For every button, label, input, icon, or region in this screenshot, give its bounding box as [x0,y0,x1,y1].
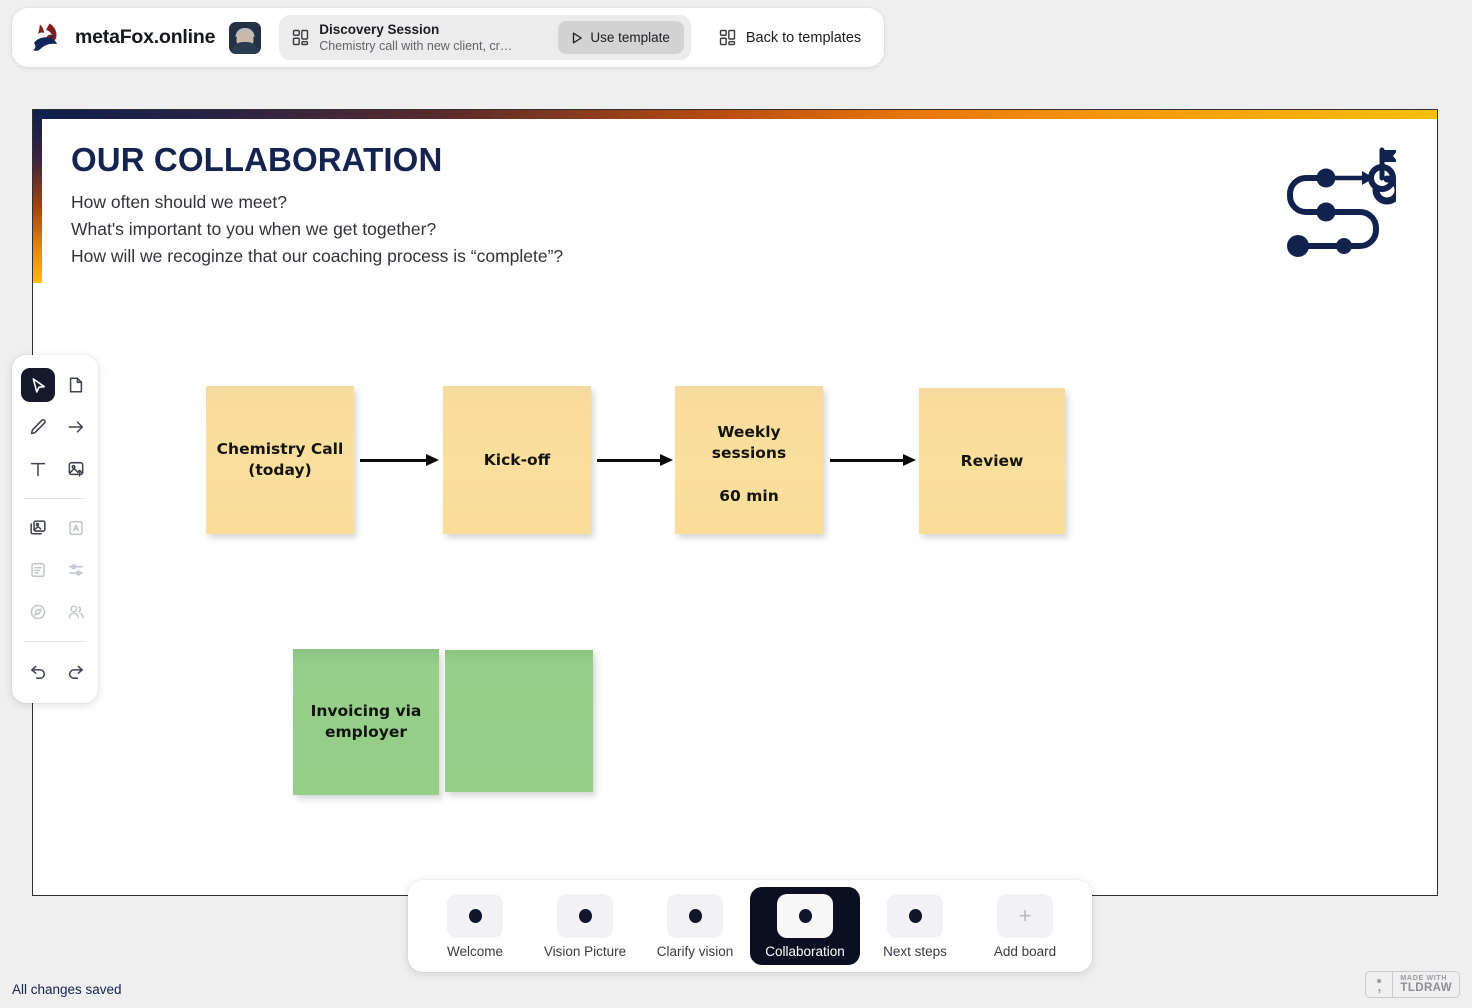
people-icon [67,603,85,621]
sticky-note[interactable] [445,650,593,792]
toolbar-divider [24,641,86,642]
tldraw-badge-text: MADE WITH TLDRAW [1393,975,1459,994]
tldraw-logo-icon: , [1366,972,1393,997]
top-header-bar: metaFox.online Discovery Session Chemist… [12,8,884,67]
document-list-icon [29,561,47,579]
arrow-tool[interactable] [59,410,93,444]
page-title: OUR COLLABORATION [71,143,563,176]
play-icon [572,32,583,44]
board-label: Collaboration [765,944,845,959]
text-t-icon [29,460,47,478]
board-tab-next-steps[interactable]: Next steps [860,887,970,965]
sticky-note-text: Review [961,451,1024,472]
media-library[interactable] [21,511,55,545]
grid-icon [719,29,736,46]
image-upload-icon [67,460,85,478]
avatar-body [231,42,259,54]
slide-header: OUR COLLABORATION How often should we me… [71,143,563,270]
sticky-note-text: Chemistry Call (today) [217,439,344,481]
avatar[interactable] [229,22,261,54]
sliders-icon [67,561,85,579]
board-label: Clarify vision [657,944,734,959]
board-thumbnail: + [997,894,1053,938]
save-status: All changes saved [12,982,122,997]
board-navigation-bar: Welcome Vision Picture Clarify vision Co… [408,880,1092,972]
compass-icon [29,603,47,621]
sticky-note[interactable]: Invoicing via employer [293,649,439,795]
sticky-note[interactable]: Weekly sessions 60 min [675,386,823,534]
board-thumbnail [557,894,613,938]
use-template-label: Use template [590,30,670,45]
toolbar-secondary-group [21,508,89,632]
question-1: How often should we meet? [71,189,563,216]
grid-icon [292,29,309,46]
image-stack-icon [29,519,47,537]
left-toolbar [12,355,98,703]
toolbar-history-group [21,651,89,691]
settings-panel[interactable] [59,553,93,587]
connector-arrow [597,453,673,467]
undo-button[interactable] [21,654,55,688]
board-tab-collaboration[interactable]: Collaboration [750,887,860,965]
cursor-arrow-icon [29,376,48,395]
connector-arrow [360,453,439,467]
page-icon [67,376,85,394]
brand-name: metaFox.online [75,26,215,49]
template-subtitle: Chemistry call with new client, cr… [319,39,512,53]
undo-arrow-icon [29,662,47,680]
template-title: Discovery Session [319,22,512,38]
board-dot-icon [579,909,592,923]
explore-panel[interactable] [21,595,55,629]
roadmap-journey-icon [1276,140,1396,260]
redo-button[interactable] [59,654,93,688]
badge-line-1: MADE WITH [1400,975,1452,982]
board-canvas[interactable]: OUR COLLABORATION How often should we me… [32,109,1438,896]
note-tool[interactable] [59,368,93,402]
board-tab-clarify-vision[interactable]: Clarify vision [640,887,750,965]
people-panel[interactable] [59,595,93,629]
gradient-left-border [33,110,42,283]
sticky-note-text: Kick-off [484,450,550,471]
sticky-note[interactable]: Kick-off [443,386,591,534]
toolbar-divider [24,498,86,499]
arrow-right-icon [67,418,85,436]
image-upload-tool[interactable] [59,452,93,486]
board-label: Welcome [447,944,503,959]
select-tool[interactable] [21,368,55,402]
board-thumbnail [667,894,723,938]
board-dot-icon [799,909,812,923]
board-tab-vision-picture[interactable]: Vision Picture [530,887,640,965]
redo-arrow-icon [67,662,85,680]
board-dot-icon [909,909,922,923]
sticky-note-text: Invoicing via employer [306,701,426,743]
pencil-icon [29,418,47,436]
board-dot-icon [689,909,702,923]
board-dot-icon [469,909,482,923]
board-tab-welcome[interactable]: Welcome [420,887,530,965]
connector-arrow [830,453,916,467]
text-tool[interactable] [21,452,55,486]
sticky-note[interactable]: Chemistry Call (today) [206,386,354,534]
gradient-top-border [33,110,1437,119]
board-label: Add board [994,944,1056,959]
draw-tool[interactable] [21,410,55,444]
letter-box-icon [67,519,85,537]
frame-tool[interactable] [59,511,93,545]
back-to-templates-label: Back to templates [746,30,861,46]
badge-line-2: TLDRAW [1400,982,1452,994]
plus-icon: + [1019,905,1032,927]
brand[interactable]: metaFox.online [32,22,215,54]
made-with-tldraw-badge[interactable]: , MADE WITH TLDRAW [1365,971,1460,998]
sticky-note[interactable]: Review [919,388,1065,534]
board-label: Vision Picture [544,944,626,959]
template-text: Discovery Session Chemistry call with ne… [319,22,512,54]
sticky-note-text: Weekly sessions 60 min [675,422,823,507]
toolbar-primary-group [21,365,89,489]
fox-logo-icon [32,22,62,54]
use-template-button[interactable]: Use template [558,21,684,54]
back-to-templates-button[interactable]: Back to templates [719,29,861,46]
question-3: How will we recoginze that our coaching … [71,243,563,270]
board-thumbnail [887,894,943,938]
template-info-pill: Discovery Session Chemistry call with ne… [279,15,691,60]
app-root: metaFox.online Discovery Session Chemist… [0,0,1472,1008]
add-board-button[interactable]: + Add board [970,887,1080,965]
notes-panel[interactable] [21,553,55,587]
question-2: What's important to you when we get toge… [71,216,563,243]
board-label: Next steps [883,944,947,959]
board-thumbnail [447,894,503,938]
board-thumbnail [777,894,833,938]
